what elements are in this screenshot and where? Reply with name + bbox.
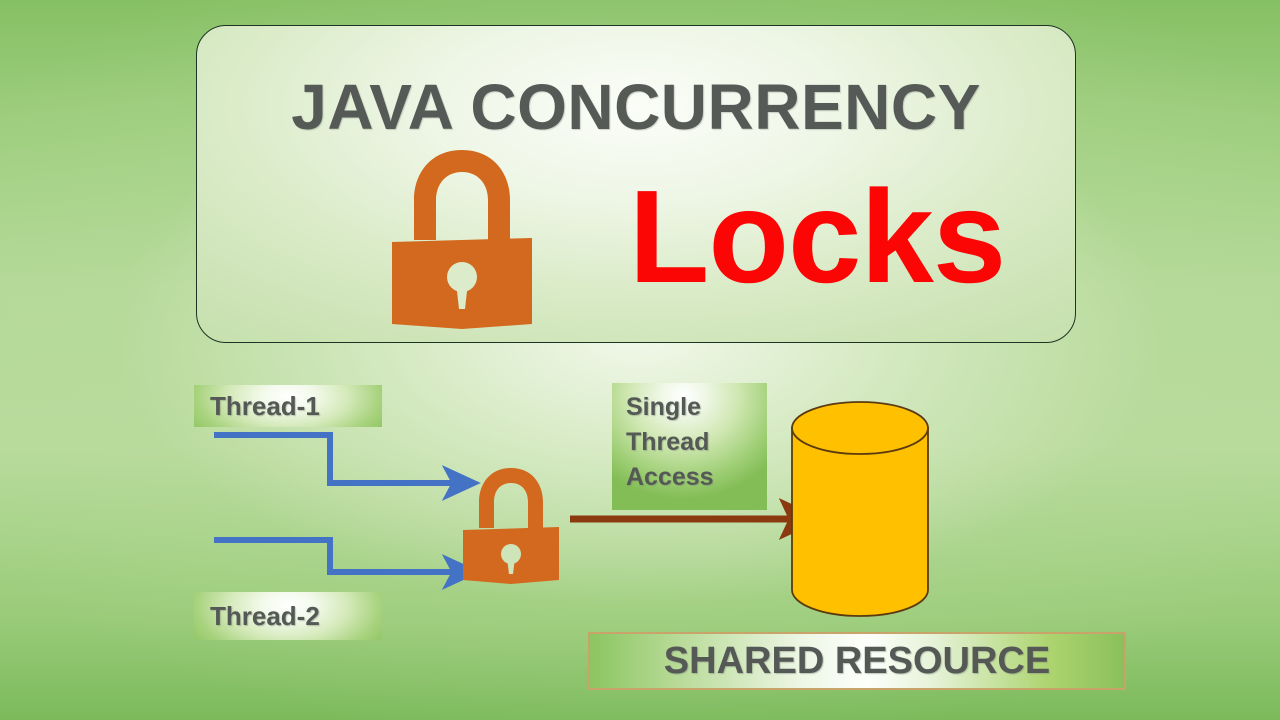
padlock-icon-small <box>463 468 559 584</box>
access-line-3: Access <box>626 460 767 495</box>
thread2-label: Thread-2 <box>194 592 382 640</box>
thread1-label: Thread-1 <box>194 385 382 427</box>
thread2-arrow <box>214 540 455 572</box>
access-line-1: Single <box>626 390 767 425</box>
shared-resource-label: SHARED RESOURCE <box>588 632 1126 690</box>
locks-keyword: Locks <box>567 144 1067 329</box>
padlock-icon-large <box>387 144 537 329</box>
single-thread-access-label: Single Thread Access <box>612 383 767 510</box>
access-line-2: Thread <box>626 425 767 460</box>
slide-canvas: JAVA CONCURRENCY Locks <box>0 0 1280 720</box>
thread1-arrow <box>214 435 455 483</box>
database-cylinder-icon <box>792 402 928 616</box>
page-title: JAVA CONCURRENCY <box>197 70 1075 144</box>
thread2-arrow-line <box>214 540 455 572</box>
title-panel: JAVA CONCURRENCY Locks <box>196 25 1076 343</box>
